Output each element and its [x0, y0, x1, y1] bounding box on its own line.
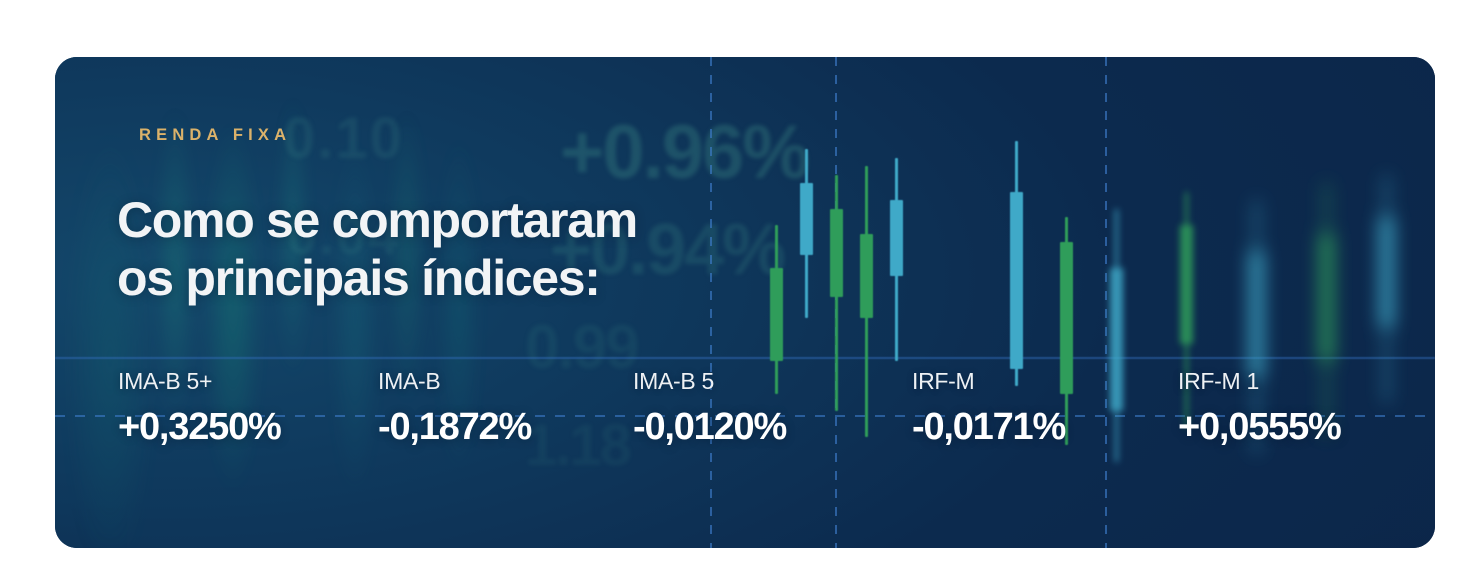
index-name: IRF-M: [912, 370, 1065, 393]
index-name: IMA-B: [378, 370, 531, 393]
index-value: -0,1872%: [378, 408, 531, 446]
indices-row: IMA-B 5++0,3250%IMA-B-0,1872%IMA-B 5-0,0…: [55, 370, 1435, 480]
index-column: IMA-B-0,1872%: [378, 370, 531, 446]
index-value: +0,3250%: [118, 408, 281, 446]
card-title: Como se comportaram os principais índice…: [117, 191, 637, 307]
renda-fixa-badge: RENDA FIXA: [118, 118, 312, 153]
index-value: -0,0120%: [633, 408, 786, 446]
renda-fixa-badge-label: RENDA FIXA: [139, 127, 291, 144]
index-name: IRF-M 1: [1178, 370, 1341, 393]
index-value: +0,0555%: [1178, 408, 1341, 446]
index-column: IMA-B 5-0,0120%: [633, 370, 786, 446]
index-column: IRF-M 1+0,0555%: [1178, 370, 1341, 446]
index-column: IRF-M-0,0171%: [912, 370, 1065, 446]
index-value: -0,0171%: [912, 408, 1065, 446]
index-name: IMA-B 5+: [118, 370, 281, 393]
index-column: IMA-B 5++0,3250%: [118, 370, 281, 446]
index-name: IMA-B 5: [633, 370, 786, 393]
renda-fixa-card: 0.10 0.04 +0.96% +0.94% 0.99 1.18 RENDA …: [55, 57, 1435, 548]
